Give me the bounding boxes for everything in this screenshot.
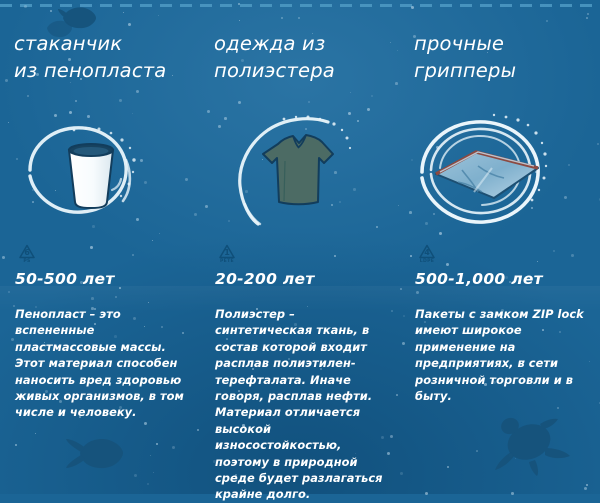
columns-container: стаканчик из пенопласта (0, 0, 600, 494)
column-zip-lock-bags: прочные грипперы (400, 0, 600, 494)
polo-shirt-illustration (200, 108, 400, 236)
column-body-text: Пенопласт – это вспененные пластмассовые… (15, 306, 194, 421)
foam-cup-illustration (0, 108, 200, 236)
recycle-icon-ps (16, 243, 38, 267)
column-heading: прочные грипперы (414, 30, 592, 84)
recycle-icon-pete (216, 243, 238, 267)
decomposition-years: 50-500 лет (15, 270, 194, 288)
recycle-icon-ldpe (416, 243, 438, 267)
column-heading: одежда из полиэстера (214, 30, 392, 84)
column-heading: стаканчик из пенопласта (14, 30, 192, 84)
column-polyester-clothing: одежда из полиэстера (200, 0, 400, 494)
column-body-text: Пакеты с замком ZIP lock имеют широкое п… (415, 306, 594, 404)
column-foam-cup: стаканчик из пенопласта (0, 0, 200, 494)
decomposition-years: 500-1,000 лет (415, 270, 594, 288)
column-body-text: Полиэстер – синтетическая ткань, в соста… (215, 306, 394, 503)
zip-lock-bag-illustration (400, 108, 600, 236)
decomposition-years: 20-200 лет (215, 270, 394, 288)
